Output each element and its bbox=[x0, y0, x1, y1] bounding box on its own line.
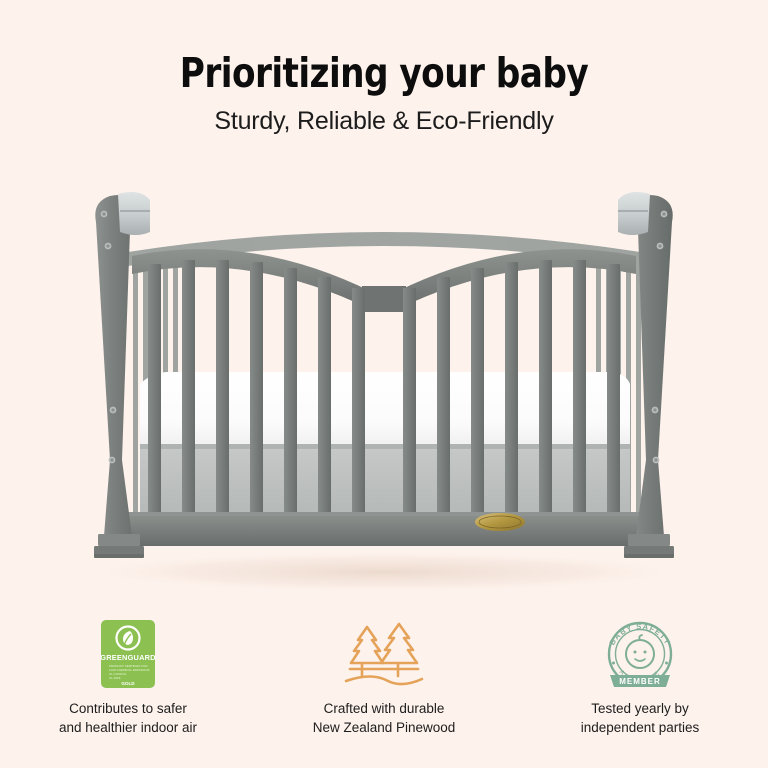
crib-bottom-rail bbox=[128, 512, 640, 546]
header: Prioritizing your baby Sturdy, Reliable … bbox=[0, 0, 768, 136]
page-subtitle: Sturdy, Reliable & Eco-Friendly bbox=[0, 107, 768, 136]
page-title: Prioritizing your baby bbox=[27, 52, 741, 95]
floor-shadow bbox=[84, 552, 684, 592]
feature-row: GREENGUARD PRODUCT CERTIFIED FOR LOW CHE… bbox=[0, 618, 768, 737]
feature-caption: Crafted with durable New Zealand Pinewoo… bbox=[313, 699, 456, 737]
feature-item-safety-alliance: BABY SAFETY ALLIANCE MEMBER Tested yearl… bbox=[512, 618, 768, 737]
greenguard-certification-icon: GREENGUARD PRODUCT CERTIFIED FOR LOW CHE… bbox=[100, 618, 156, 690]
pine-trees-icon bbox=[336, 618, 432, 690]
product-image bbox=[0, 160, 768, 600]
svg-text:GREENGUARD: GREENGUARD bbox=[100, 653, 156, 662]
svg-text:MEMBER: MEMBER bbox=[619, 677, 661, 686]
baby-safety-alliance-seal-icon: BABY SAFETY ALLIANCE MEMBER bbox=[598, 618, 682, 690]
feature-caption: Contributes to safer and healthier indoo… bbox=[59, 699, 197, 737]
svg-text:UL 2818: UL 2818 bbox=[109, 676, 121, 680]
brand-medallion bbox=[475, 513, 525, 531]
crib-front-rail bbox=[132, 249, 636, 312]
feature-caption: Tested yearly by independent parties bbox=[581, 699, 700, 737]
feature-item-greenguard: GREENGUARD PRODUCT CERTIFIED FOR LOW CHE… bbox=[0, 618, 256, 737]
svg-text:BABY SAFETY: BABY SAFETY bbox=[608, 622, 673, 647]
svg-text:GOLD: GOLD bbox=[121, 681, 135, 686]
feature-item-pinewood: Crafted with durable New Zealand Pinewoo… bbox=[256, 618, 512, 737]
